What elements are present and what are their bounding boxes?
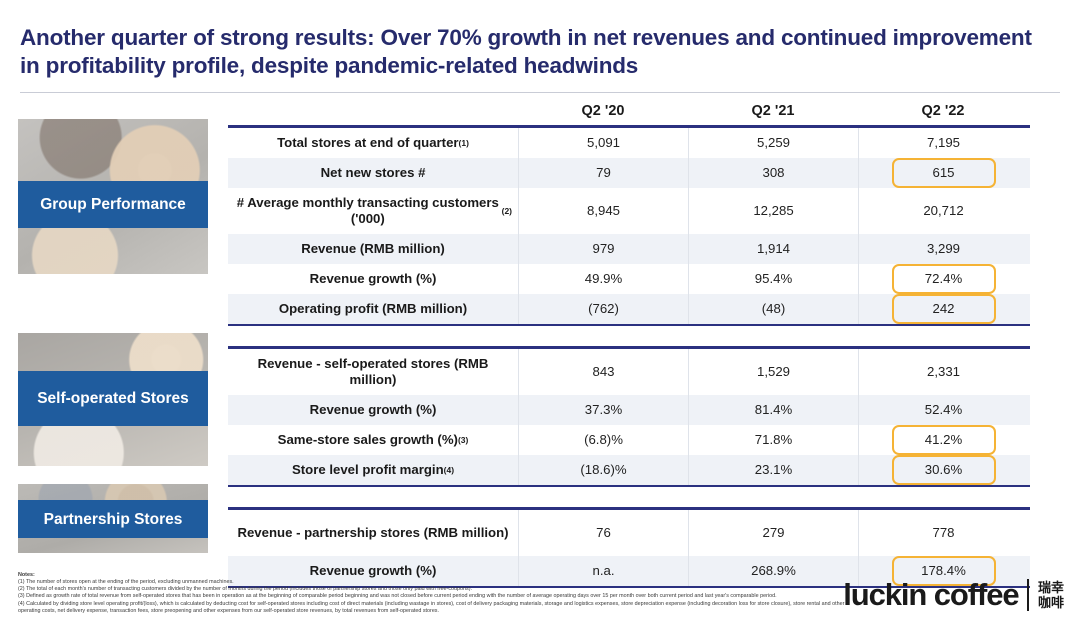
- row-label-text: Operating profit (RMB million): [279, 301, 467, 317]
- row-label: Total stores at end of quarter(1): [228, 128, 518, 158]
- table-row: Net new stores # 79 308 615: [228, 158, 1030, 188]
- category-card-partnership-stores: Partnership Stores: [18, 484, 208, 553]
- row-label-text: # Average monthly transacting customers …: [234, 195, 502, 227]
- row-label: Net new stores #: [228, 158, 518, 188]
- cell-q2-21: 308: [688, 158, 858, 188]
- footnotes: Notes: (1) The number of stores open at …: [18, 572, 858, 615]
- table-row: Revenue growth (%) 49.9% 95.4% 72.4%: [228, 264, 1030, 294]
- footnote-item-4: (4) Calculated by dividing store level o…: [18, 601, 858, 615]
- cell-q2-20: 79: [518, 158, 688, 188]
- cell-q2-21: 95.4%: [688, 264, 858, 294]
- section-gap: [228, 487, 1030, 507]
- highlight-box: 41.2%: [892, 425, 996, 455]
- row-label-text: Revenue (RMB million): [301, 241, 445, 257]
- cell-q2-20: 76: [518, 510, 688, 556]
- cell-q2-20: 37.3%: [518, 395, 688, 425]
- table-row: Same-store sales growth (%)(3) (6.8)% 71…: [228, 425, 1030, 455]
- table-row: Revenue (RMB million) 979 1,914 3,299: [228, 234, 1030, 264]
- row-label: Revenue - self-operated stores (RMB mill…: [228, 349, 518, 395]
- cell-q2-21: 279: [688, 510, 858, 556]
- row-label-text: Net new stores #: [321, 165, 426, 181]
- row-label: # Average monthly transacting customers …: [228, 188, 518, 234]
- highlight-box: 30.6%: [892, 455, 996, 485]
- row-label: Revenue growth (%): [228, 395, 518, 425]
- row-label-text: Same-store sales growth (%): [278, 432, 458, 448]
- footnote-marker: (3): [458, 432, 468, 448]
- row-label-text: Revenue growth (%): [310, 271, 437, 287]
- category-label-self-operated-stores: Self-operated Stores: [18, 371, 208, 426]
- row-label: Revenue growth (%): [228, 264, 518, 294]
- logo-wordmark: luckin coffee: [843, 578, 1018, 612]
- metrics-table: Q2 '20 Q2 '21 Q2 '22 Total stores at end…: [228, 96, 1030, 588]
- title-divider: [20, 92, 1060, 93]
- cell-q2-22: 615: [858, 158, 1028, 188]
- cell-q2-20: (762): [518, 294, 688, 324]
- cell-q2-20: 8,945: [518, 188, 688, 234]
- cell-q2-21: 1,529: [688, 349, 858, 395]
- cell-q2-22: 242: [858, 294, 1028, 324]
- table-row: Revenue - self-operated stores (RMB mill…: [228, 349, 1030, 395]
- highlight-box: 72.4%: [892, 264, 996, 294]
- category-label-partnership-stores: Partnership Stores: [18, 500, 208, 538]
- footnotes-heading: Notes:: [18, 572, 858, 579]
- page-title: Another quarter of strong results: Over …: [20, 24, 1050, 80]
- row-label-text: Revenue - self-operated stores (RMB mill…: [234, 356, 512, 388]
- logo-chinese-top: 瑞幸: [1038, 580, 1064, 595]
- cell-q2-20: 49.9%: [518, 264, 688, 294]
- row-label-text: Store level profit margin: [292, 462, 444, 478]
- table-row: Store level profit margin(4) (18.6)% 23.…: [228, 455, 1030, 485]
- cell-q2-20: 5,091: [518, 128, 688, 158]
- row-label-text: Revenue - partnership stores (RMB millio…: [237, 525, 508, 541]
- footnote-marker: (2): [502, 203, 512, 219]
- cell-q2-22: 778: [858, 510, 1028, 556]
- row-label-text: Revenue growth (%): [310, 402, 437, 418]
- table-row: Operating profit (RMB million) (762) (48…: [228, 294, 1030, 324]
- table-row: Total stores at end of quarter(1) 5,091 …: [228, 128, 1030, 158]
- column-header-q2-20: Q2 '20: [518, 96, 688, 125]
- category-card-self-operated-stores: Self-operated Stores: [18, 333, 208, 466]
- header-spacer: [228, 96, 518, 125]
- cell-q2-22: 41.2%: [858, 425, 1028, 455]
- footnote-marker: (1): [459, 135, 469, 151]
- cell-q2-21: 81.4%: [688, 395, 858, 425]
- cell-q2-21: 1,914: [688, 234, 858, 264]
- footnote-item-3: (3) Defined as growth rate of total reve…: [18, 593, 858, 600]
- section-gap: [228, 326, 1030, 346]
- cell-q2-21: 12,285: [688, 188, 858, 234]
- slide: Another quarter of strong results: Over …: [0, 0, 1080, 620]
- logo-chinese-bottom: 咖啡: [1038, 595, 1064, 610]
- row-label: Operating profit (RMB million): [228, 294, 518, 324]
- table-row: Revenue - partnership stores (RMB millio…: [228, 510, 1030, 556]
- footnote-item-2: (2) The total of each month's number of …: [18, 586, 858, 593]
- row-label: Same-store sales growth (%)(3): [228, 425, 518, 455]
- row-label: Revenue (RMB million): [228, 234, 518, 264]
- cell-q2-22: 7,195: [858, 128, 1028, 158]
- cell-q2-22: 2,331: [858, 349, 1028, 395]
- category-label-group-performance: Group Performance: [18, 181, 208, 228]
- cell-q2-22: 52.4%: [858, 395, 1028, 425]
- row-label: Store level profit margin(4): [228, 455, 518, 485]
- row-label-text: Total stores at end of quarter: [277, 135, 458, 151]
- highlight-box: 242: [892, 294, 996, 324]
- cell-q2-20: 843: [518, 349, 688, 395]
- table-row: # Average monthly transacting customers …: [228, 188, 1030, 234]
- footnote-item-1: (1) The number of stores open at the end…: [18, 579, 858, 586]
- cell-q2-22: 20,712: [858, 188, 1028, 234]
- cell-q2-21: 23.1%: [688, 455, 858, 485]
- row-label: Revenue - partnership stores (RMB millio…: [228, 510, 518, 556]
- cell-q2-20: (6.8)%: [518, 425, 688, 455]
- cell-q2-21: 5,259: [688, 128, 858, 158]
- cell-q2-22: 30.6%: [858, 455, 1028, 485]
- logo-divider: [1027, 579, 1029, 611]
- footnote-marker: (4): [444, 462, 454, 478]
- category-card-group-performance: Group Performance: [18, 119, 208, 274]
- cell-q2-20: (18.6)%: [518, 455, 688, 485]
- cell-q2-22: 3,299: [858, 234, 1028, 264]
- table-row: Revenue growth (%) 37.3% 81.4% 52.4%: [228, 395, 1030, 425]
- table-header-row: Q2 '20 Q2 '21 Q2 '22: [228, 96, 1030, 125]
- luckin-coffee-logo: luckin coffee 瑞幸 咖啡: [843, 578, 1064, 612]
- cell-q2-21: 71.8%: [688, 425, 858, 455]
- cell-q2-21: (48): [688, 294, 858, 324]
- column-header-q2-21: Q2 '21: [688, 96, 858, 125]
- logo-chinese: 瑞幸 咖啡: [1038, 580, 1064, 610]
- highlight-box: 615: [892, 158, 996, 188]
- cell-q2-20: 979: [518, 234, 688, 264]
- cell-q2-22: 72.4%: [858, 264, 1028, 294]
- column-header-q2-22: Q2 '22: [858, 96, 1028, 125]
